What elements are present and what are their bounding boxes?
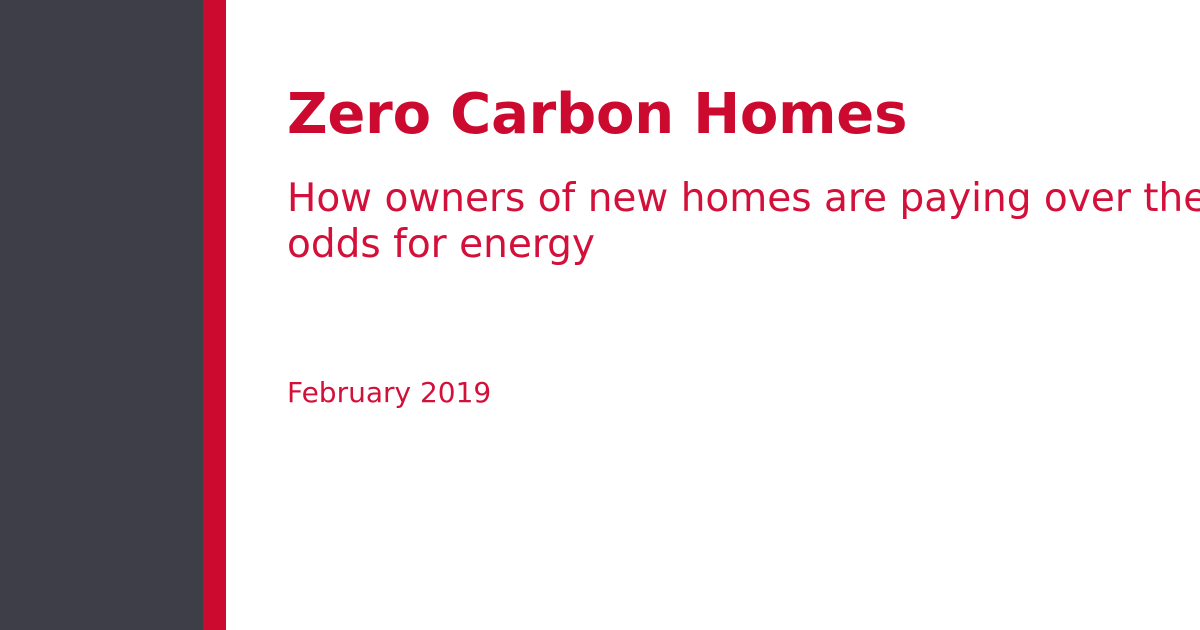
slide-title: Zero Carbon Homes xyxy=(287,85,1156,144)
slide-subtitle-line-1: How owners of new homes are paying over … xyxy=(287,176,1156,222)
red-accent-stripe xyxy=(203,0,226,630)
slide-date: February 2019 xyxy=(287,376,1156,410)
left-decorative-panel xyxy=(0,0,203,630)
slide-subtitle-line-2: odds for energy xyxy=(287,222,1156,268)
slide-content: Zero Carbon Homes How owners of new home… xyxy=(287,0,1156,630)
slide-subtitle: How owners of new homes are paying over … xyxy=(287,176,1156,268)
title-slide: Zero Carbon Homes How owners of new home… xyxy=(0,0,1200,630)
